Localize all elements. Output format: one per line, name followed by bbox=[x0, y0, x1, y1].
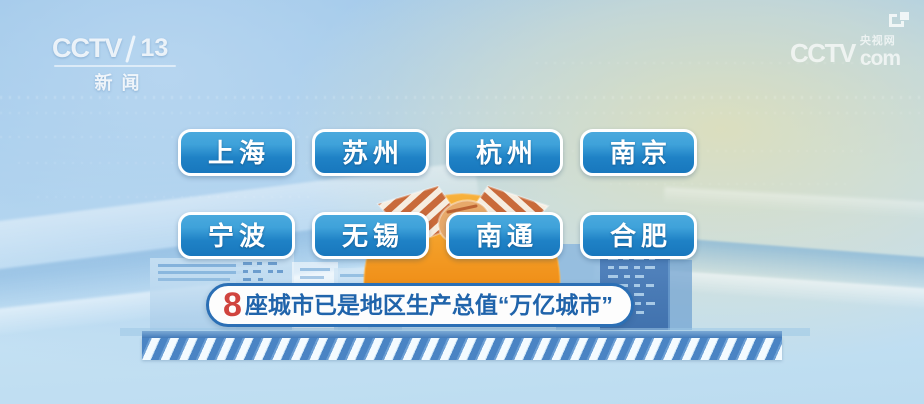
window-frame-icon bbox=[886, 8, 912, 30]
city-chip-label: 上海 bbox=[203, 140, 270, 166]
cctv-com-watermark: CCTV 央视网 com bbox=[790, 36, 900, 69]
watermark-brand: CCTV bbox=[790, 38, 855, 69]
city-chip-label: 苏州 bbox=[337, 140, 404, 166]
logo-channel-number: 13 bbox=[141, 34, 169, 63]
watermark-line: CCTV 央视网 com bbox=[790, 36, 900, 69]
city-chip-hangzhou[interactable]: 杭州 bbox=[446, 129, 563, 176]
logo-slash-icon bbox=[126, 35, 137, 63]
city-chip-hefei[interactable]: 合肥 bbox=[580, 212, 697, 259]
background-light-sweep bbox=[664, 187, 924, 221]
logo-cctv-text: CCTV bbox=[52, 33, 122, 64]
city-chip-row-1: 上海 苏州 杭州 南京 bbox=[178, 129, 697, 176]
watermark-right-block: 央视网 com bbox=[860, 36, 900, 69]
logo-wordmark: CCTV 13 bbox=[52, 33, 182, 64]
logo-subtitle: 新闻 bbox=[52, 69, 182, 95]
banner-text: 座城市已是地区生产总值“万亿城市” bbox=[245, 294, 613, 317]
city-chip-label: 南通 bbox=[471, 223, 538, 249]
city-chip-label: 南京 bbox=[605, 140, 672, 166]
watermark-domain: com bbox=[860, 48, 900, 69]
data-texture-band bbox=[37, 196, 314, 198]
city-chip-nantong[interactable]: 南通 bbox=[446, 212, 563, 259]
city-chip-label: 合肥 bbox=[605, 223, 672, 249]
data-texture-band bbox=[0, 112, 924, 114]
city-chip-wuxi[interactable]: 无锡 bbox=[312, 212, 429, 259]
banner-count: 8 bbox=[223, 288, 242, 322]
headline-banner: 8 座城市已是地区生产总值“万亿城市” bbox=[206, 283, 634, 327]
cctv13-channel-logo: CCTV 13 新闻 bbox=[52, 33, 182, 91]
city-chip-label: 无锡 bbox=[337, 223, 404, 249]
broadcast-graphic-frame: 上海 苏州 杭州 南京 宁波 无锡 南通 合肥 8 座城市已是地区生产总值“万亿… bbox=[0, 0, 924, 404]
city-chip-row-2: 宁波 无锡 南通 合肥 bbox=[178, 212, 697, 259]
city-chip-nanjing[interactable]: 南京 bbox=[580, 129, 697, 176]
city-chip-shanghai[interactable]: 上海 bbox=[178, 129, 295, 176]
city-chip-label: 杭州 bbox=[471, 140, 538, 166]
hazard-stripe-bar bbox=[142, 338, 782, 360]
watermark-cn-text: 央视网 bbox=[860, 36, 896, 47]
data-texture-band bbox=[0, 96, 924, 99]
logo-underline-rule bbox=[54, 65, 176, 67]
data-texture-band bbox=[610, 183, 850, 185]
city-chip-ningbo[interactable]: 宁波 bbox=[178, 212, 295, 259]
city-chip-suzhou[interactable]: 苏州 bbox=[312, 129, 429, 176]
city-chip-label: 宁波 bbox=[203, 223, 270, 249]
